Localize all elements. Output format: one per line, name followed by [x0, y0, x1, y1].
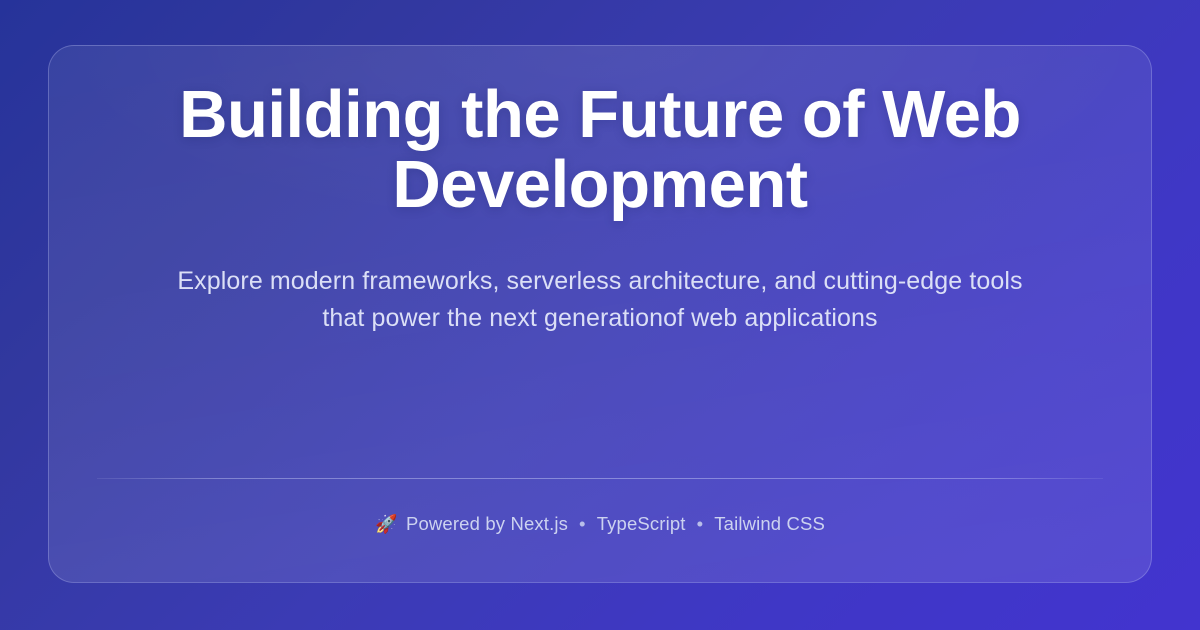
- footer-powered-by: Powered by Next.js: [406, 512, 568, 536]
- page-title: Building the Future of Web Development: [160, 80, 1040, 220]
- footer-tech-typescript: TypeScript: [597, 512, 686, 536]
- og-card: Building the Future of Web Development E…: [48, 45, 1152, 583]
- rocket-icon: 🚀: [375, 513, 397, 535]
- page-subtitle: Explore modern frameworks, serverless ar…: [160, 263, 1040, 337]
- footer-credits: 🚀 Powered by Next.js • TypeScript • Tail…: [375, 512, 825, 536]
- footer-separator-icon: •: [695, 512, 706, 536]
- footer-separator-icon: •: [577, 512, 588, 536]
- footer-divider: [97, 478, 1103, 479]
- footer-tech-tailwind: Tailwind CSS: [714, 512, 825, 536]
